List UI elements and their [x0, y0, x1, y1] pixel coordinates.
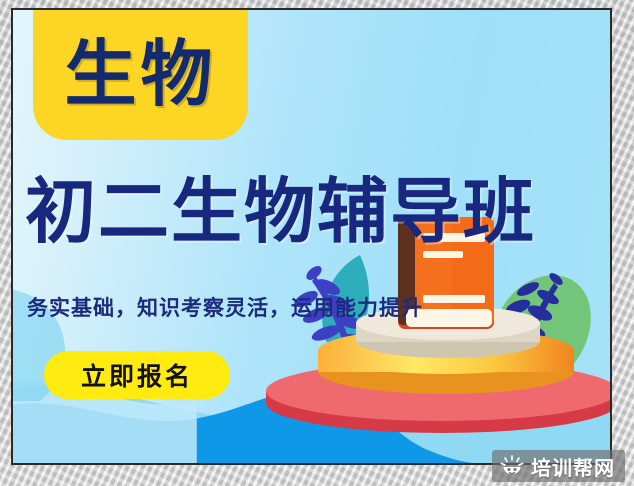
enroll-now-label: 立即报名 [81, 357, 193, 393]
watermark-text: 培训帮网 [531, 452, 615, 481]
screenshot-canvas: 生物 初二生物辅导班 务实基础，知识考察灵活，运用能力提升 立即报名 [0, 0, 634, 486]
course-promo-banner: 生物 初二生物辅导班 务实基础，知识考察灵活，运用能力提升 立即报名 [11, 8, 612, 465]
enroll-now-button[interactable]: 立即报名 [44, 351, 230, 399]
subtitle-text: 务实基础，知识考察灵活，运用能力提升 [27, 292, 423, 322]
page-title: 初二生物辅导班 [25, 176, 610, 247]
subject-badge-label: 生物 [64, 38, 216, 110]
sun-face-icon [500, 455, 524, 477]
watermark-badge: 培训帮网 [492, 450, 625, 482]
subject-badge: 生物 [33, 10, 248, 140]
